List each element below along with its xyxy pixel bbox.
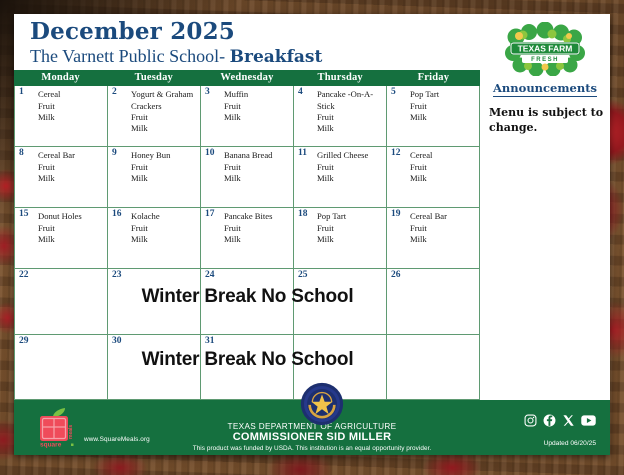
day-cell[interactable]: 12 Cereal Fruit Milk	[387, 147, 480, 207]
day-menu: Pancake -On-A- Stick Fruit Milk	[317, 89, 383, 134]
day-cell[interactable]: 16 Kolache Fruit Milk	[108, 208, 201, 268]
day-cell[interactable]: 18 Pop Tart Fruit Milk	[294, 208, 387, 268]
texas-farm-fresh-logo: TEXAS FARM FRESH	[503, 22, 587, 76]
day-menu: Honey Bun Fruit Milk	[131, 150, 197, 184]
page-title: December 2025	[30, 20, 480, 45]
day-of-week-header: Monday Tuesday Wednesday Thursday Friday	[14, 70, 480, 86]
dow-tuesday: Tuesday	[107, 70, 200, 86]
updated-date: Updated 06/20/25	[544, 440, 596, 447]
announcements-heading: Announcements	[493, 82, 597, 97]
calendar-week-row: 1 Cereal Fruit Milk 2 Yogurt & Graham Cr…	[15, 86, 480, 147]
commissioner-name: COMMISSIONER SID MILLER	[14, 431, 610, 443]
day-number: 16	[112, 209, 122, 219]
day-number: 11	[298, 148, 307, 158]
day-menu: Banana Bread Fruit Milk	[224, 150, 290, 184]
youtube-icon[interactable]	[581, 414, 596, 427]
calendar-title-bar: December 2025 The Varnett Public School-…	[14, 14, 480, 70]
day-cell[interactable]: 8 Cereal Bar Fruit Milk	[15, 147, 108, 207]
day-number: 1	[19, 87, 24, 97]
day-number: 26	[391, 270, 401, 280]
texas-department-of-agriculture-seal	[300, 382, 344, 426]
day-number: 15	[19, 209, 29, 219]
day-cell[interactable]: 23	[108, 269, 201, 333]
day-number: 19	[391, 209, 401, 219]
day-number: 4	[298, 87, 303, 97]
day-number: 17	[205, 209, 215, 219]
day-cell[interactable]: 11 Grilled Cheese Fruit Milk	[294, 147, 387, 207]
day-number: 23	[112, 270, 122, 280]
social-links	[524, 414, 596, 427]
day-cell[interactable]: 24	[201, 269, 294, 333]
school-subtitle: The Varnett Public School- Breakfast	[30, 46, 480, 68]
calendar-grid: 1 Cereal Fruit Milk 2 Yogurt & Graham Cr…	[14, 86, 480, 400]
day-number: 22	[19, 270, 29, 280]
instagram-icon[interactable]	[524, 414, 537, 427]
announcements-panel: TEXAS FARM FRESH Announcements Menu is s…	[480, 14, 610, 400]
day-cell[interactable]: 1 Cereal Fruit Milk	[15, 86, 108, 146]
day-number: 8	[19, 148, 24, 158]
day-menu: Pop Tart Fruit Milk	[317, 211, 383, 245]
day-menu: Pancake Bites Fruit Milk	[224, 211, 290, 245]
day-number: 29	[19, 336, 29, 346]
day-cell[interactable]: 3 Muffin Fruit Milk	[201, 86, 294, 146]
day-cell[interactable]: 4 Pancake -On-A- Stick Fruit Milk	[294, 86, 387, 146]
day-number: 10	[205, 148, 215, 158]
footer-bar: square meals www.SquareMeals.org TEXAS D…	[14, 400, 610, 455]
day-cell[interactable]: 22	[15, 269, 108, 333]
dow-thursday: Thursday	[294, 70, 387, 86]
day-number: 12	[391, 148, 401, 158]
day-menu: Donut Holes Fruit Milk	[38, 211, 104, 245]
day-menu: Muffin Fruit Milk	[224, 89, 290, 123]
dow-friday: Friday	[387, 70, 480, 86]
day-menu: Cereal Fruit Milk	[410, 150, 476, 184]
usda-disclaimer: This product was funded by USDA. This in…	[14, 445, 610, 452]
day-menu: Grilled Cheese Fruit Milk	[317, 150, 383, 184]
day-number: 18	[298, 209, 308, 219]
day-menu: Yogurt & Graham Crackers Fruit Milk	[131, 89, 197, 134]
calendar-column: December 2025 The Varnett Public School-…	[14, 14, 480, 400]
dow-monday: Monday	[14, 70, 107, 86]
day-cell[interactable]: 31	[201, 335, 294, 399]
day-number: 2	[112, 87, 117, 97]
x-twitter-icon[interactable]	[562, 414, 575, 427]
menu-flyer: December 2025 The Varnett Public School-…	[14, 14, 610, 455]
calendar-week-row: 8 Cereal Bar Fruit Milk 9 Honey Bun Frui…	[15, 147, 480, 208]
announcements-text: Menu is subject to change.	[489, 106, 604, 136]
day-menu: Kolache Fruit Milk	[131, 211, 197, 245]
day-cell[interactable]: 2 Yogurt & Graham Crackers Fruit Milk	[108, 86, 201, 146]
day-number: 25	[298, 270, 308, 280]
day-cell[interactable]: 26	[387, 269, 480, 333]
day-cell[interactable]: 9 Honey Bun Fruit Milk	[108, 147, 201, 207]
logo-text-fresh: FRESH	[531, 57, 559, 63]
day-menu: Cereal Fruit Milk	[38, 89, 104, 123]
logo-text-texas-farm: TEXAS FARM	[518, 44, 573, 54]
calendar-week-row: 29 30 31 Winter Break No School	[15, 335, 480, 400]
day-number: 24	[205, 270, 215, 280]
meal-type: Breakfast	[230, 47, 323, 67]
day-number: 9	[112, 148, 117, 158]
day-menu: Cereal Bar Fruit Milk	[38, 150, 104, 184]
day-cell[interactable]: 25	[294, 269, 387, 333]
calendar-week-row: 22 23 24 25 26 Winter Break No School	[15, 269, 480, 334]
day-menu: Cereal Bar Fruit Milk	[410, 211, 476, 245]
day-cell[interactable]: 15 Donut Holes Fruit Milk	[15, 208, 108, 268]
day-cell[interactable]: 19 Cereal Bar Fruit Milk	[387, 208, 480, 268]
day-cell[interactable]: 29	[15, 335, 108, 399]
day-number: 5	[391, 87, 396, 97]
dow-wednesday: Wednesday	[200, 70, 293, 86]
day-number: 3	[205, 87, 210, 97]
flyer-body: December 2025 The Varnett Public School-…	[14, 14, 610, 400]
day-cell[interactable]: 30	[108, 335, 201, 399]
day-number: 30	[112, 336, 122, 346]
facebook-icon[interactable]	[543, 414, 556, 427]
day-cell[interactable]: 17 Pancake Bites Fruit Milk	[201, 208, 294, 268]
day-cell[interactable]: 5 Pop Tart Fruit Milk	[387, 86, 480, 146]
day-cell[interactable]	[387, 335, 480, 399]
school-name: The Varnett Public School-	[30, 46, 225, 66]
calendar-week-row: 15 Donut Holes Fruit Milk 16 Kolache Fru…	[15, 208, 480, 269]
day-menu: Pop Tart Fruit Milk	[410, 89, 476, 123]
day-number: 31	[205, 336, 215, 346]
day-cell[interactable]: 10 Banana Bread Fruit Milk	[201, 147, 294, 207]
